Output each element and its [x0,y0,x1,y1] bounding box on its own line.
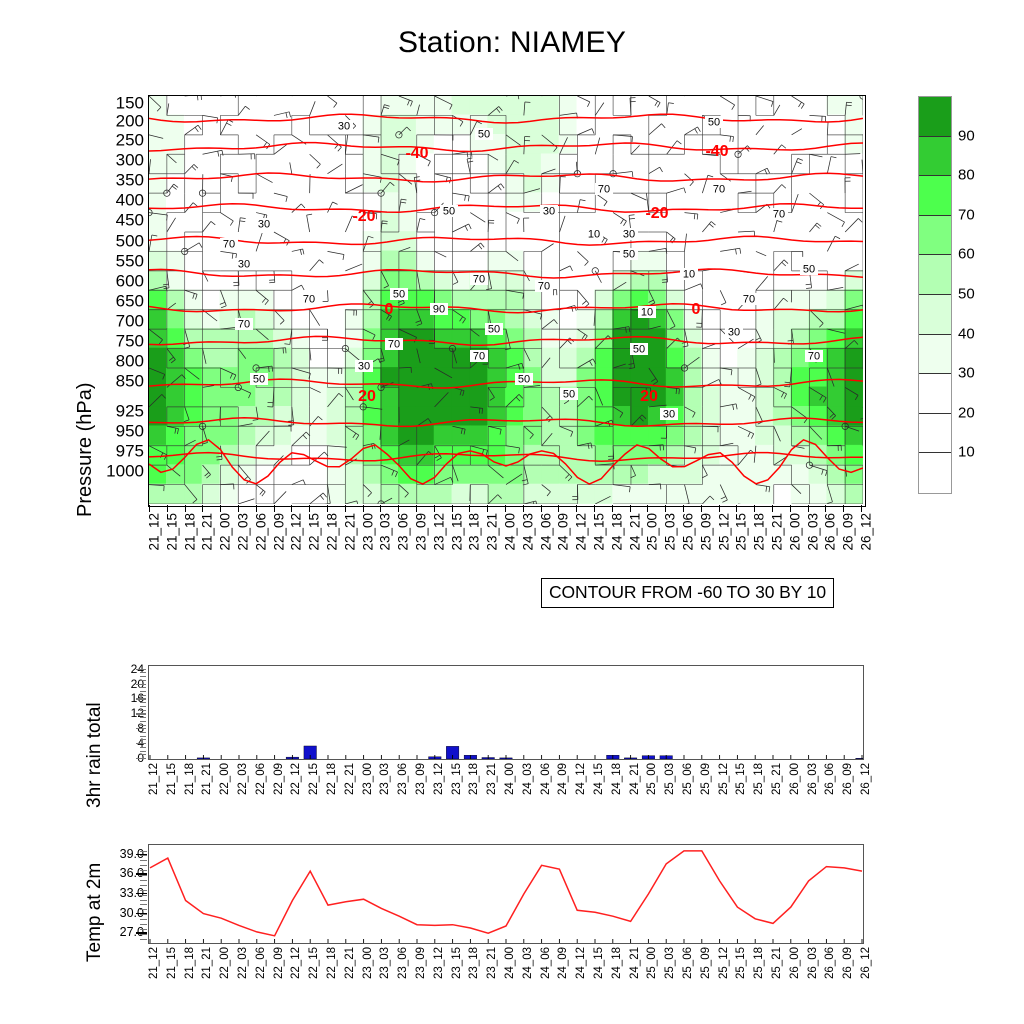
pressure-axis-label: Pressure (hPa) [52,285,78,525]
pressure-tick-550: 550 [98,252,144,269]
x-tick [825,505,826,512]
svg-text:70: 70 [388,339,400,351]
temp-time-label-26_00: 26_00 [789,947,801,979]
pressure-tick-700: 700 [98,312,144,329]
rain-time-label-25_03: 25_03 [664,763,676,795]
temp-time-label-23_18: 23_18 [468,947,480,979]
rain-time-label-22_21: 22_21 [344,763,356,795]
pressure-tick-300: 300 [98,152,144,169]
x-tick [487,505,488,512]
temp-time-label-21_18: 21_18 [184,947,196,979]
xsec-time-label-24_06: 24_06 [538,513,553,551]
rain-time-label-24_09: 24_09 [557,763,569,795]
temperature-line-svg [149,845,863,943]
xsec-time-label-26_00: 26_00 [787,513,802,551]
x-tick [701,505,702,512]
temp-time-label-24_21: 24_21 [629,947,641,979]
svg-text:70: 70 [223,239,235,251]
svg-text:-20: -20 [352,208,375,225]
temp-minor-tick [140,855,147,856]
x-tick [647,505,648,512]
rain-minor-tick [140,702,146,703]
colorbar-label-20: 20 [958,404,975,421]
rain-ytick-mark [136,684,146,685]
temperature-panel: 27.030.033.036.039.0 21_1221_1521_1821_2… [0,838,1024,1024]
svg-text:70: 70 [538,281,550,293]
rain-minor-tick [140,676,146,677]
temp-time-label-26_03: 26_03 [807,947,819,979]
rain-time-label-22_06: 22_06 [255,763,267,795]
temp-time-label-21_15: 21_15 [166,947,178,979]
temp-minor-tick [140,939,147,940]
x-tick [558,505,559,512]
xsec-time-label-23_06: 23_06 [396,513,411,551]
temp-time-label-24_12: 24_12 [575,947,587,979]
xsec-time-label-23_15: 23_15 [449,513,464,551]
rain-time-label-25_00: 25_00 [646,763,658,795]
rain-time-label-26_03: 26_03 [807,763,819,795]
xsec-time-label-25_00: 25_00 [645,513,660,551]
rain-time-label-22_09: 22_09 [273,763,285,795]
xsec-time-label-22_15: 22_15 [307,513,322,551]
temp-time-label-24_15: 24_15 [593,947,605,979]
rain-minor-tick [140,680,146,681]
temp-time-label-25_21: 25_21 [771,947,783,979]
xsec-time-label-26_06: 26_06 [823,513,838,551]
humidity-cross-section-plot: -40-40-20-200020203050503050303070703050… [148,95,866,507]
xsec-time-label-24_03: 24_03 [520,513,535,551]
x-tick [541,505,542,512]
rain-time-label-26_09: 26_09 [842,763,854,795]
colorbar-label-30: 30 [958,365,975,382]
temperature-plot [148,844,864,944]
pressure-tick-925: 925 [98,403,144,420]
xsec-time-label-25_15: 25_15 [734,513,749,551]
svg-text:30: 30 [338,121,350,133]
pressure-tick-1000: 1000 [98,463,144,480]
temp-time-label-26_06: 26_06 [824,947,836,979]
temp-minor-tick [140,919,147,920]
colorbar-swatch-4 [919,255,951,295]
rain-ytick-mark [136,728,146,729]
temp-time-label-22_09: 22_09 [273,947,285,979]
xsec-time-label-24_09: 24_09 [556,513,571,551]
temp-minor-tick [140,875,147,876]
rain-time-label-23_00: 23_00 [362,763,374,795]
x-tick [398,505,399,512]
temp-axis-label-text: Temp at 2m [84,863,106,962]
svg-text:10: 10 [683,269,695,281]
rain-ytick-mark [136,743,146,744]
pressure-tick-400: 400 [98,192,144,209]
temp-minor-tick [140,870,147,871]
rain-time-label-21_21: 21_21 [201,763,213,795]
rain-minor-tick [140,751,146,752]
x-tick [167,505,168,512]
xsec-time-label-22_00: 22_00 [218,513,233,551]
pressure-axis-label-text: Pressure (hPa) [74,383,97,518]
svg-text:30: 30 [238,259,250,271]
svg-text:70: 70 [473,274,485,286]
svg-text:30: 30 [543,206,555,218]
svg-text:30: 30 [728,327,740,339]
pressure-tick-150: 150 [98,95,144,112]
pressure-tick-800: 800 [98,353,144,370]
rain-time-label-26_06: 26_06 [824,763,836,795]
rain-time-label-25_06: 25_06 [682,763,694,795]
temp-minor-tick [140,900,147,901]
temp-time-label-22_21: 22_21 [344,947,356,979]
colorbar-swatch-3 [919,216,951,256]
rain-time-label-23_12: 23_12 [433,763,445,795]
x-tick [790,505,791,512]
svg-text:0: 0 [385,301,394,318]
xsec-time-label-23_12: 23_12 [431,513,446,551]
rain-time-label-24_21: 24_21 [629,763,641,795]
svg-text:70: 70 [473,351,485,363]
colorbar-label-40: 40 [958,325,975,342]
x-tick [149,505,150,512]
xsec-time-label-23_00: 23_00 [360,513,375,551]
svg-text:10: 10 [641,307,653,319]
temp-time-label-24_00: 24_00 [504,947,516,979]
x-tick [523,505,524,512]
temp-minor-tick [140,880,147,881]
rain-time-label-24_03: 24_03 [522,763,534,795]
pressure-tick-750: 750 [98,332,144,349]
temp-minor-tick [140,904,147,905]
temp-time-label-25_00: 25_00 [646,947,658,979]
svg-text:20: 20 [640,388,658,405]
x-tick [843,505,844,512]
rain-time-label-23_15: 23_15 [451,763,463,795]
rain-minor-tick [140,732,146,733]
temp-minor-tick [140,914,147,915]
rain-minor-tick [140,739,146,740]
rain-minor-tick [140,687,146,688]
rain-time-label-21_12: 21_12 [148,763,160,795]
temp-minor-tick [140,895,147,896]
rain-time-label-22_00: 22_00 [219,763,231,795]
x-tick [576,505,577,512]
colorbar-swatch-6 [919,335,951,375]
x-tick [612,505,613,512]
rain-axis-label: 3hr rain total [60,660,90,810]
rain-time-label-22_18: 22_18 [326,763,338,795]
svg-text:50: 50 [563,389,575,401]
cross-section-panel: Pressure (hPa) 1502002503003504004505005… [0,85,1024,585]
temp-time-label-22_03: 22_03 [237,947,249,979]
temp-time-label-25_03: 25_03 [664,947,676,979]
x-tick [256,505,257,512]
temp-time-label-22_12: 22_12 [290,947,302,979]
rain-minor-tick [140,754,146,755]
xsec-time-label-24_00: 24_00 [503,513,518,551]
rain-ytick-mark [136,758,146,759]
colorbar-label-70: 70 [958,206,975,223]
rain-time-label-24_00: 24_00 [504,763,516,795]
colorbar-swatch-0 [919,97,951,137]
xsec-time-label-22_06: 22_06 [253,513,268,551]
xsec-time-label-24_12: 24_12 [574,513,589,551]
svg-text:50: 50 [803,264,815,276]
svg-text:0: 0 [692,301,701,318]
colorbar-swatch-8 [919,414,951,454]
humidity-colorbar [918,96,952,494]
pressure-tick-350: 350 [98,172,144,189]
x-tick [327,505,328,512]
colorbar-label-50: 50 [958,286,975,303]
x-tick [719,505,720,512]
x-tick [309,505,310,512]
pressure-tick-labels: 1502002503003504004505005506006507007508… [98,85,144,505]
colorbar-label-10: 10 [958,444,975,461]
xsec-time-label-22_21: 22_21 [342,513,357,551]
x-tick [363,505,364,512]
svg-text:30: 30 [258,219,270,231]
xsec-time-label-23_03: 23_03 [378,513,393,551]
temp-time-label-22_00: 22_00 [219,947,231,979]
xsec-time-label-23_18: 23_18 [467,513,482,551]
xsec-time-label-21_15: 21_15 [164,513,179,551]
x-tick [345,505,346,512]
temp-time-label-23_12: 23_12 [433,947,445,979]
pressure-tick-650: 650 [98,292,144,309]
xsec-time-label-24_21: 24_21 [627,513,642,551]
temp-time-label-25_06: 25_06 [682,947,694,979]
temp-minor-tick [140,909,147,910]
rain-panel: 24201612840 21_1221_1521_1821_2122_0022_… [0,655,1024,805]
pressure-tick-250: 250 [98,132,144,149]
xsec-time-label-26_03: 26_03 [805,513,820,551]
xsec-time-label-21_12: 21_12 [147,513,162,551]
svg-text:-20: -20 [645,205,668,222]
temp-time-label-23_09: 23_09 [415,947,427,979]
svg-text:-40: -40 [705,143,728,160]
rain-minor-tick [140,725,146,726]
svg-text:10: 10 [588,229,600,241]
temp-minor-tick [140,890,147,891]
xsec-time-label-26_12: 26_12 [859,513,874,551]
xsec-time-label-22_09: 22_09 [271,513,286,551]
xsec-time-label-25_12: 25_12 [716,513,731,551]
svg-text:70: 70 [598,184,610,196]
temp-time-label-26_12: 26_12 [860,947,872,979]
x-tick [754,505,755,512]
x-tick [683,505,684,512]
pressure-tick-950: 950 [98,423,144,440]
xsec-time-label-22_12: 22_12 [289,513,304,551]
rain-time-label-23_09: 23_09 [415,763,427,795]
xsec-time-label-25_21: 25_21 [770,513,785,551]
svg-text:50: 50 [488,324,500,336]
xsec-time-label-26_09: 26_09 [841,513,856,551]
rain-time-label-23_18: 23_18 [468,763,480,795]
temp-time-label-24_18: 24_18 [611,947,623,979]
pressure-tick-500: 500 [98,232,144,249]
svg-text:70: 70 [743,294,755,306]
x-tick [202,505,203,512]
rain-minor-tick [140,691,146,692]
temp-minor-tick [140,934,147,935]
temp-minor-tick [140,851,147,852]
rain-time-label-25_09: 25_09 [700,763,712,795]
pressure-tick-600: 600 [98,272,144,289]
temp-time-label-24_09: 24_09 [557,947,569,979]
xsec-time-label-21_18: 21_18 [182,513,197,551]
rain-ytick-mark [136,713,146,714]
temp-time-label-21_21: 21_21 [201,947,213,979]
x-tick [220,505,221,512]
svg-text:70: 70 [808,351,820,363]
temp-time-label-23_03: 23_03 [379,947,391,979]
colorbar-swatch-2 [919,176,951,216]
x-tick [808,505,809,512]
xsec-time-label-25_09: 25_09 [698,513,713,551]
svg-text:-40: -40 [405,145,428,162]
xsec-time-label-24_18: 24_18 [609,513,624,551]
rain-time-label-24_06: 24_06 [540,763,552,795]
temp-time-label-23_21: 23_21 [486,947,498,979]
temp-time-label-24_06: 24_06 [540,947,552,979]
rain-time-label-24_18: 24_18 [611,763,623,795]
humidity-colorbar-labels: 908070605040302010 [958,96,1018,492]
rain-minor-tick [140,710,146,711]
xsec-time-label-25_06: 25_06 [681,513,696,551]
temp-axis-label: Temp at 2m [58,836,90,956]
colorbar-label-60: 60 [958,246,975,263]
rain-time-label-21_18: 21_18 [184,763,196,795]
rain-bars-svg [149,666,863,759]
rain-minor-tick [140,672,146,673]
svg-text:50: 50 [623,249,635,261]
svg-text:50: 50 [633,344,645,356]
svg-text:50: 50 [708,117,720,129]
rain-time-label-26_00: 26_00 [789,763,801,795]
svg-text:90: 90 [433,304,445,316]
temp-minor-tick [140,865,147,866]
svg-text:50: 50 [518,374,530,386]
xsec-time-label-21_21: 21_21 [200,513,215,551]
rain-time-label-24_12: 24_12 [575,763,587,795]
rain-time-label-23_21: 23_21 [486,763,498,795]
temp-x-labels: 21_1221_1521_1821_2122_0022_0322_0622_09… [148,947,864,1007]
x-tick [505,505,506,512]
colorbar-swatch-9 [919,453,951,493]
svg-text:30: 30 [358,361,370,373]
x-tick [736,505,737,512]
x-tick [416,505,417,512]
rain-time-label-25_21: 25_21 [771,763,783,795]
rain-time-label-25_12: 25_12 [718,763,730,795]
temp-time-label-24_03: 24_03 [522,947,534,979]
rain-x-labels: 21_1221_1521_1821_2122_0022_0322_0622_09… [148,763,864,823]
rain-ytick-mark [136,669,146,670]
x-tick [434,505,435,512]
temp-time-label-21_12: 21_12 [148,947,160,979]
temp-minor-tick [140,885,147,886]
cross-section-svg: -40-40-20-200020203050503050303070703050… [149,96,863,504]
rain-time-label-25_15: 25_15 [735,763,747,795]
rain-minor-tick [140,717,146,718]
temp-time-label-22_06: 22_06 [255,947,267,979]
temp-time-label-22_18: 22_18 [326,947,338,979]
page-title: Station: NIAMEY [0,26,1024,60]
x-tick [665,505,666,512]
xsec-time-label-24_15: 24_15 [592,513,607,551]
svg-text:50: 50 [478,129,490,141]
x-tick [291,505,292,512]
temp-time-label-25_12: 25_12 [718,947,730,979]
x-tick [594,505,595,512]
rain-minor-tick [140,736,146,737]
colorbar-swatch-1 [919,137,951,177]
pressure-tick-850: 850 [98,373,144,390]
pressure-tick-200: 200 [98,112,144,129]
colorbar-swatch-5 [919,295,951,335]
svg-text:50: 50 [253,374,265,386]
svg-text:20: 20 [358,388,376,405]
rain-time-label-26_12: 26_12 [860,763,872,795]
xsec-time-label-25_03: 25_03 [663,513,678,551]
x-tick [274,505,275,512]
pressure-tick-450: 450 [98,212,144,229]
temp-time-label-23_00: 23_00 [362,947,374,979]
colorbar-label-80: 80 [958,167,975,184]
rain-minor-tick [140,721,146,722]
xsec-time-label-22_03: 22_03 [236,513,251,551]
rain-time-label-22_12: 22_12 [290,763,302,795]
xsec-time-label-25_18: 25_18 [752,513,767,551]
rain-time-label-21_15: 21_15 [166,763,178,795]
rain-axis-label-text: 3hr rain total [84,702,106,808]
xsec-time-label-23_09: 23_09 [414,513,429,551]
temp-minor-tick [140,860,147,861]
svg-text:70: 70 [773,209,785,221]
colorbar-label-90: 90 [958,127,975,144]
rain-time-label-23_03: 23_03 [379,763,391,795]
colorbar-swatch-7 [919,374,951,414]
svg-text:70: 70 [713,184,725,196]
x-tick [772,505,773,512]
x-tick [380,505,381,512]
rain-time-label-24_15: 24_15 [593,763,605,795]
rain-time-label-22_15: 22_15 [308,763,320,795]
temp-time-label-26_09: 26_09 [842,947,854,979]
temp-time-label-22_15: 22_15 [308,947,320,979]
pressure-tick-975: 975 [98,443,144,460]
x-tick [861,505,862,512]
xsec-time-label-23_21: 23_21 [485,513,500,551]
x-tick [238,505,239,512]
temp-time-label-23_06: 23_06 [397,947,409,979]
rain-minor-tick [140,706,146,707]
x-tick [469,505,470,512]
rain-plot [148,665,864,760]
temp-time-label-25_09: 25_09 [700,947,712,979]
rain-minor-tick [140,695,146,696]
xsec-time-label-22_18: 22_18 [325,513,340,551]
rain-time-label-23_06: 23_06 [397,763,409,795]
svg-text:50: 50 [443,206,455,218]
temp-time-label-25_15: 25_15 [735,947,747,979]
temp-minor-tick [140,924,147,925]
x-tick [185,505,186,512]
rain-time-label-22_03: 22_03 [237,763,249,795]
temp-time-label-25_18: 25_18 [753,947,765,979]
rain-time-label-25_18: 25_18 [753,763,765,795]
contour-note: CONTOUR FROM -60 TO 30 BY 10 [541,578,834,608]
